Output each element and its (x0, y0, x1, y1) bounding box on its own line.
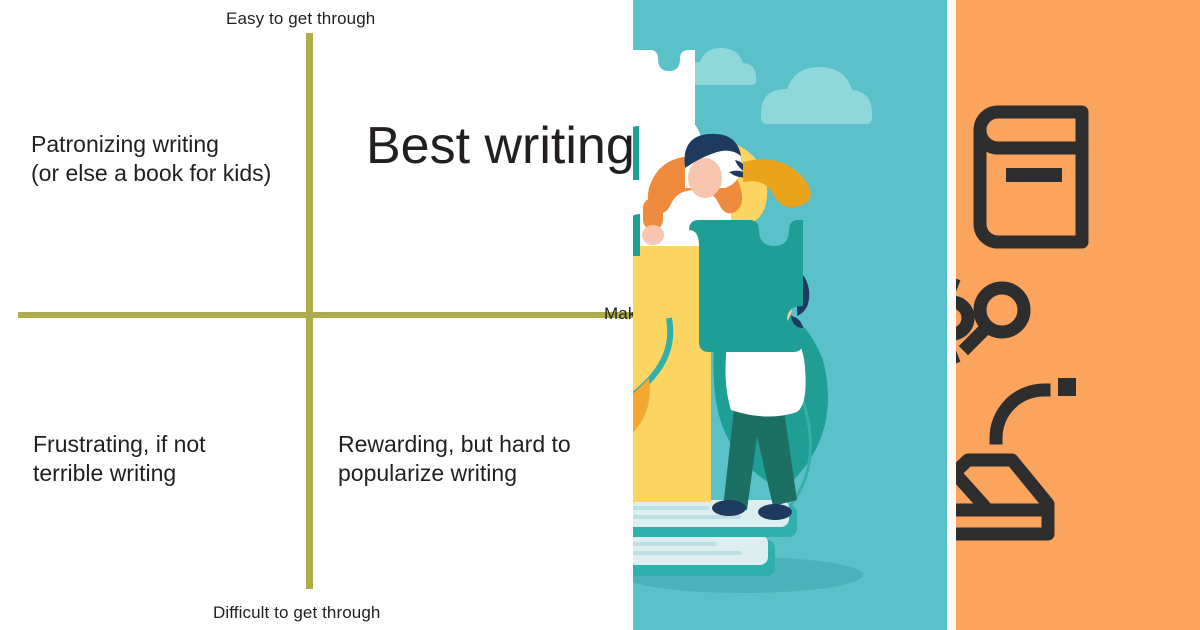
teamwork-puzzle-illustration (633, 0, 947, 630)
quadrant-top-left: Patronizing writing (or else a book for … (31, 130, 311, 189)
quadrant-top-right: Best writing (366, 113, 633, 180)
icon-panel (956, 0, 1200, 630)
quadrant-bottom-right-line2: popularize writing (338, 459, 598, 488)
illustration-panel (633, 0, 947, 630)
screenshot-canvas: Easy to get through Difficult to get thr… (0, 0, 1200, 630)
axis-label-top: Easy to get through (226, 9, 375, 29)
quadrant-top-right-line1: Best writing (366, 113, 633, 180)
quadrant-top-left-line2: (or else a book for kids) (31, 159, 311, 188)
line-icon-collection (956, 0, 1200, 630)
axis-label-right: Mak (604, 304, 633, 324)
quadrant-bottom-right-line1: Rewarding, but hard to (338, 430, 598, 459)
axis-label-bottom: Difficult to get through (213, 603, 380, 623)
vertical-axis-line (306, 33, 313, 589)
quadrant-bottom-right: Rewarding, but hard to popularize writin… (338, 430, 598, 489)
quadrant-matrix-panel: Easy to get through Difficult to get thr… (0, 0, 633, 630)
quadrant-bottom-left-line1: Frustrating, if not (33, 430, 303, 459)
quadrant-bottom-left-line2: terrible writing (33, 459, 303, 488)
quadrant-bottom-left: Frustrating, if not terrible writing (33, 430, 303, 489)
horizontal-axis-line (18, 312, 633, 318)
quadrant-top-left-line1: Patronizing writing (31, 130, 311, 159)
panel-divider-gap (947, 0, 956, 630)
